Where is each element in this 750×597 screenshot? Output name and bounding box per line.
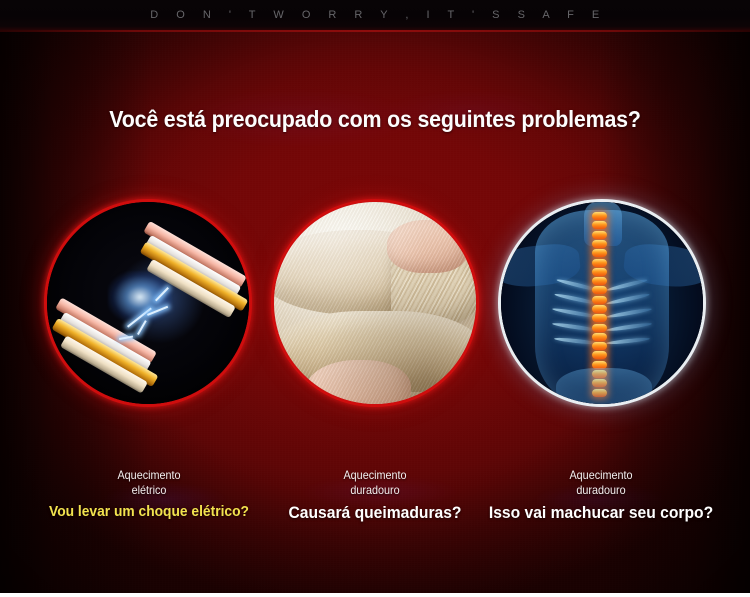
card-3-image-slot bbox=[501, 202, 703, 404]
page-bottom-edge bbox=[0, 593, 750, 597]
xray-pelvis bbox=[556, 368, 653, 404]
page-title: Você está preocupado com os seguintes pr… bbox=[26, 106, 724, 133]
card-1-image-slot bbox=[47, 202, 249, 404]
xray-spine-image[interactable] bbox=[501, 202, 703, 404]
card-2-image-slot bbox=[274, 202, 476, 404]
caption-row: Aquecimento elétrico Vou levar um choque… bbox=[0, 468, 750, 530]
banner-underline-divider bbox=[0, 30, 750, 32]
image-circle-row bbox=[0, 202, 750, 404]
promo-panel: D O N ' T W O R R Y , I T ' S S A F E Vo… bbox=[0, 0, 750, 597]
card-3-question: Isso vai machucar seu corpo? bbox=[463, 503, 739, 523]
card-3-label-line2: duradouro bbox=[466, 483, 736, 498]
bandage-artwork bbox=[274, 202, 476, 404]
card-3-caption: Aquecimento duradouro Isso vai machucar … bbox=[451, 468, 750, 523]
xray-artwork bbox=[501, 202, 703, 404]
bandage-shading bbox=[274, 202, 476, 404]
electric-cables-artwork bbox=[47, 202, 249, 404]
electric-cables-spark-image[interactable] bbox=[47, 202, 249, 404]
card-3-label-line1: Aquecimento bbox=[466, 468, 736, 483]
top-banner: D O N ' T W O R R Y , I T ' S S A F E bbox=[0, 0, 750, 30]
banner-tagline: D O N ' T W O R R Y , I T ' S S A F E bbox=[143, 9, 607, 21]
bandage-wrap-image[interactable] bbox=[274, 202, 476, 404]
